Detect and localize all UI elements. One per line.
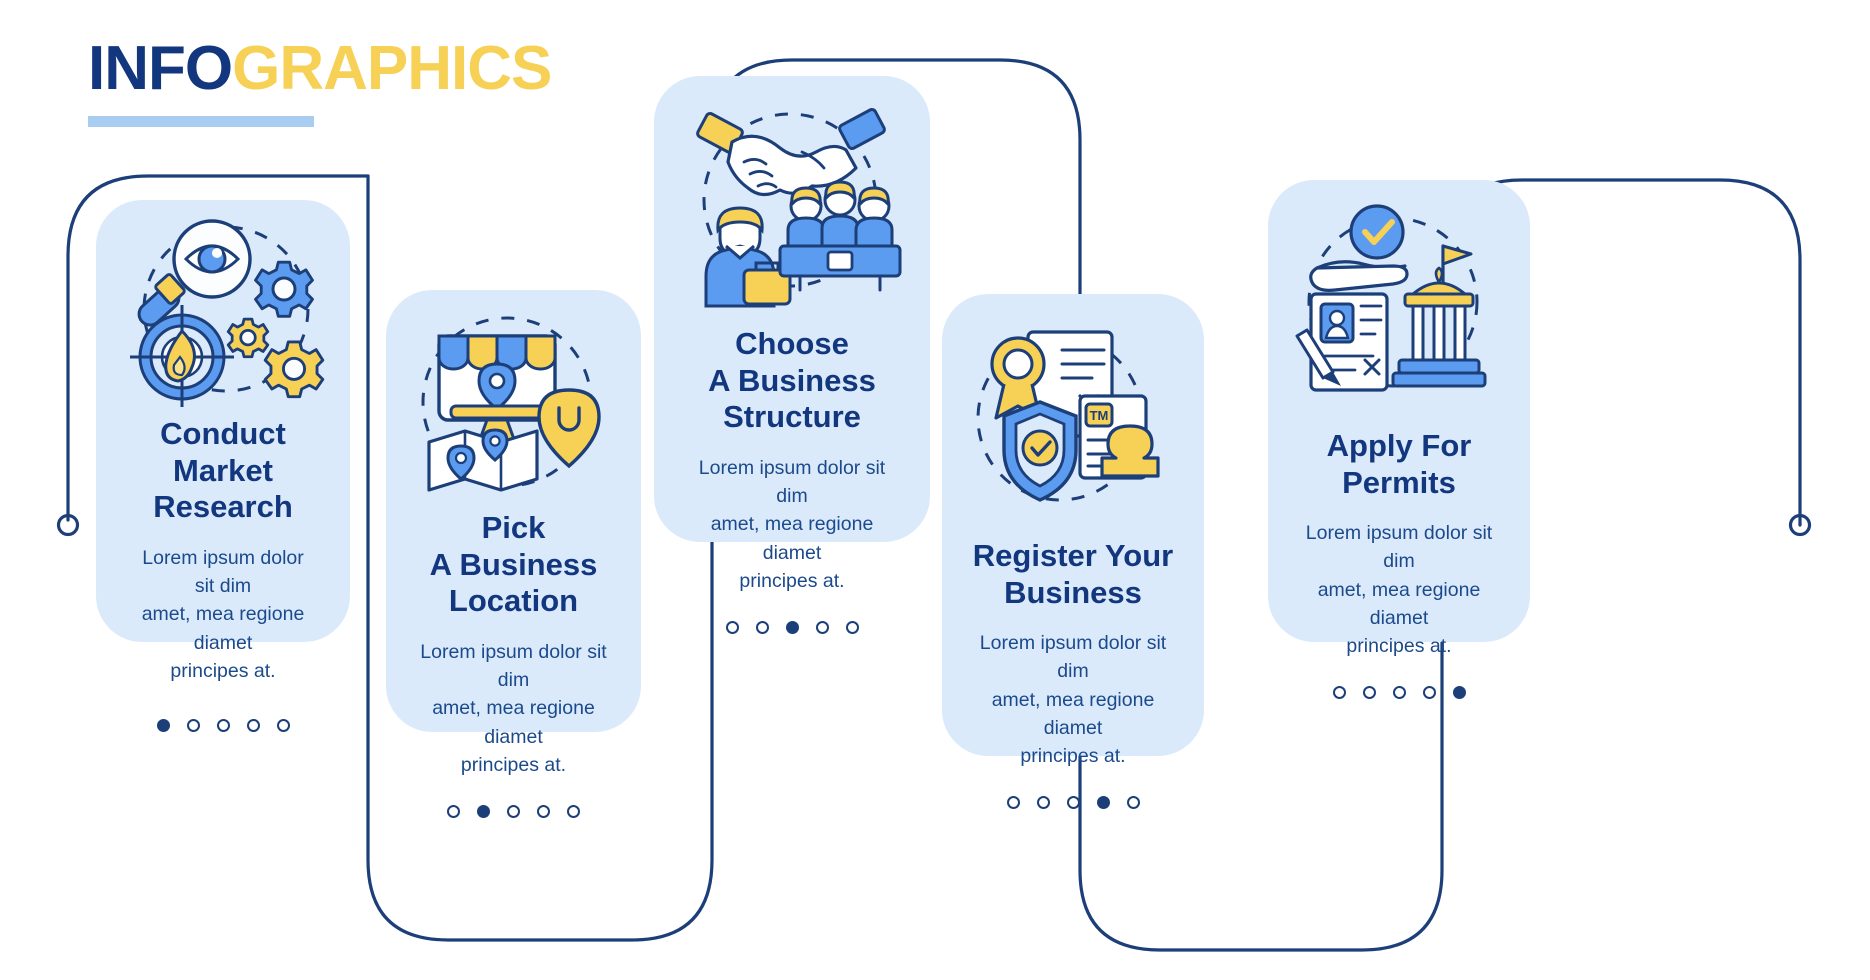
step-card-choose-a-business-structure[interactable]: Choose A Business Structure Lorem ipsum …: [654, 76, 930, 542]
step-indicator[interactable]: [157, 719, 290, 732]
magnifier-eye-gears-target-icon: [96, 218, 350, 406]
step-dot-4[interactable]: [1097, 796, 1110, 809]
card-body-text: Lorem ipsum dolor sit dim amet, mea regi…: [942, 629, 1204, 770]
step-dot-4[interactable]: [247, 719, 260, 732]
step-dot-2[interactable]: [756, 621, 769, 634]
infographic-canvas: INFOGRAPHICS: [0, 0, 1870, 980]
step-dot-1[interactable]: [1007, 796, 1020, 809]
card-body-text: Lorem ipsum dolor sit dim amet, mea regi…: [386, 638, 641, 779]
card-body-text: Lorem ipsum dolor sit dim amet, mea regi…: [96, 544, 350, 685]
card-body-text: Lorem ipsum dolor sit dim amet, mea regi…: [1268, 519, 1530, 660]
step-dot-4[interactable]: [537, 805, 550, 818]
step-dot-3[interactable]: [217, 719, 230, 732]
handshake-team-icon: [654, 96, 930, 316]
step-dot-3[interactable]: [507, 805, 520, 818]
step-dot-5[interactable]: [277, 719, 290, 732]
step-dot-3[interactable]: [786, 621, 799, 634]
step-indicator[interactable]: [1007, 796, 1140, 809]
card-body-text: Lorem ipsum dolor sit dim amet, mea regi…: [654, 454, 930, 595]
step-indicator[interactable]: [1333, 686, 1466, 699]
check-document-government-icon: [1268, 202, 1530, 418]
card-title: Conduct Market Research: [139, 416, 307, 526]
step-dot-1[interactable]: [447, 805, 460, 818]
card-title: Apply For Permits: [1313, 428, 1486, 501]
step-card-register-your-business[interactable]: TM Register Your Business Lorem ipsum do…: [942, 294, 1204, 756]
page-title: INFOGRAPHICS: [88, 38, 551, 100]
step-dot-5[interactable]: [846, 621, 859, 634]
step-dot-2[interactable]: [1363, 686, 1376, 699]
certificate-shield-stamp-icon: TM: [942, 314, 1204, 528]
step-dot-1[interactable]: [726, 621, 739, 634]
card-title: Choose A Business Structure: [694, 326, 890, 436]
step-indicator[interactable]: [726, 621, 859, 634]
step-dot-1[interactable]: [157, 719, 170, 732]
card-title: Register Your Business: [959, 538, 1187, 611]
step-dot-2[interactable]: [477, 805, 490, 818]
connector-left-endpoint: [59, 516, 78, 535]
card-title: Pick A Business Location: [416, 510, 612, 620]
step-card-apply-for-permits[interactable]: Apply For Permits Lorem ipsum dolor sit …: [1268, 180, 1530, 642]
step-dot-5[interactable]: [1127, 796, 1140, 809]
step-dot-2[interactable]: [1037, 796, 1050, 809]
title-underline-bar: [88, 116, 314, 127]
step-indicator[interactable]: [447, 805, 580, 818]
storefront-map-pin-icon: [386, 304, 641, 500]
step-card-conduct-market-research[interactable]: Conduct Market Research Lorem ipsum dolo…: [96, 200, 350, 642]
step-dot-5[interactable]: [1453, 686, 1466, 699]
step-dot-5[interactable]: [567, 805, 580, 818]
connector-right-endpoint: [1791, 516, 1810, 535]
step-dot-3[interactable]: [1393, 686, 1406, 699]
svg-text:TM: TM: [1090, 408, 1109, 423]
step-dot-1[interactable]: [1333, 686, 1346, 699]
step-dot-3[interactable]: [1067, 796, 1080, 809]
step-dot-2[interactable]: [187, 719, 200, 732]
step-card-pick-a-business-location[interactable]: Pick A Business Location Lorem ipsum dol…: [386, 290, 641, 732]
step-dot-4[interactable]: [1423, 686, 1436, 699]
page-title-primary: INFO: [88, 34, 232, 103]
step-dot-4[interactable]: [816, 621, 829, 634]
page-title-block: INFOGRAPHICS: [88, 38, 551, 127]
page-title-accent: GRAPHICS: [232, 34, 551, 103]
